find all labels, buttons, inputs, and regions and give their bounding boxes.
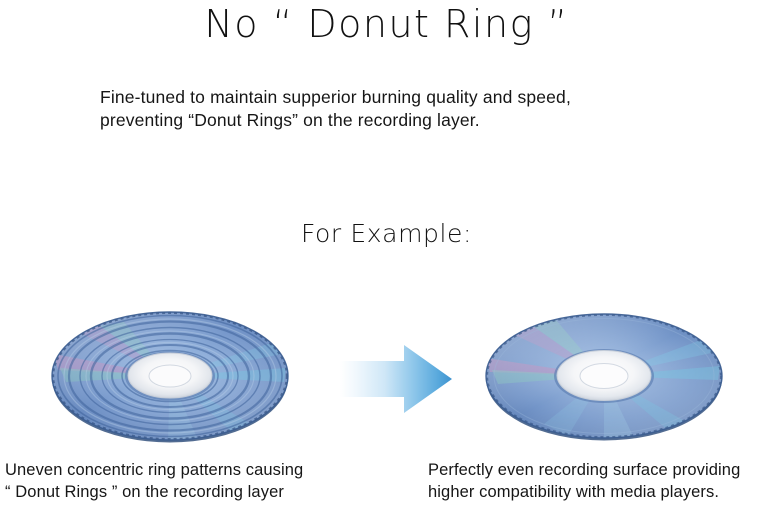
subtitle-line-2: preventing “Donut Rings” on the recordin… [100, 109, 700, 132]
slide-canvas: No “ Donut Ring ” Fine-tuned to maintain… [0, 0, 773, 508]
section-label: For Example: [0, 219, 773, 248]
caption-right: Perfectly even recording surface providi… [428, 459, 773, 503]
arrow-right-icon [338, 343, 454, 415]
optical-disc-with-donut-rings [48, 308, 298, 453]
disc-ringed-icon [48, 308, 298, 453]
disc-smooth-icon [482, 308, 732, 453]
optical-disc-even-surface [482, 308, 732, 453]
caption-left: Uneven concentric ring patterns causing … [5, 459, 405, 503]
subtitle-line-1: Fine-tuned to maintain supperior burning… [100, 87, 571, 107]
subtitle-block: Fine-tuned to maintain supperior burning… [100, 86, 700, 132]
page-title: No “ Donut Ring ” [0, 2, 773, 46]
